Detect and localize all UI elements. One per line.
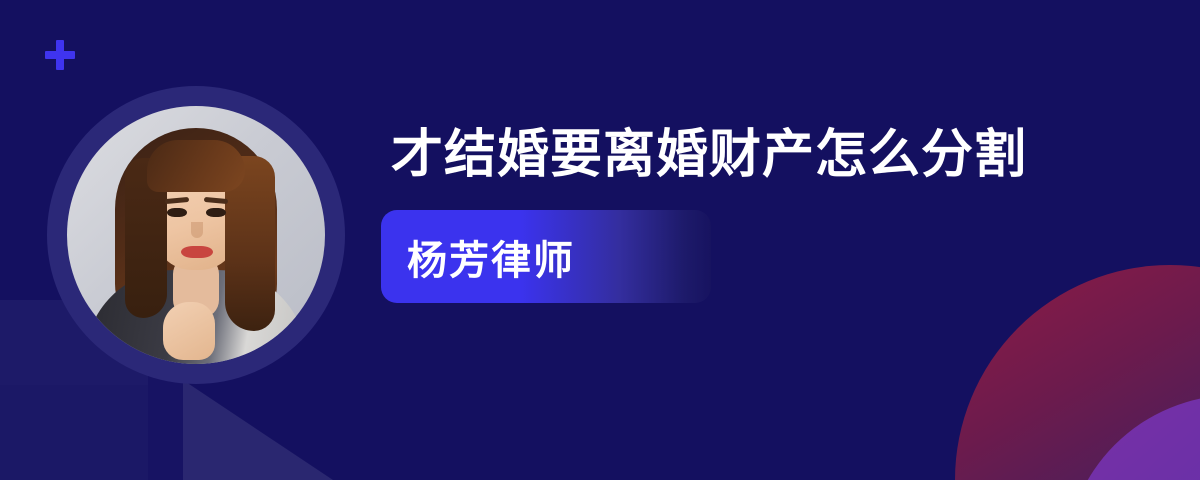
- portrait-eye-right: [206, 208, 226, 217]
- portrait-hand: [163, 302, 215, 360]
- decor-band-left: [0, 385, 155, 480]
- avatar: [47, 86, 345, 384]
- portrait-nose: [191, 222, 203, 238]
- page-title: 才结婚要离婚财产怎么分割: [391, 118, 1071, 193]
- portrait-eye-left: [167, 208, 187, 217]
- avatar-photo: [67, 106, 325, 364]
- portrait-fringe: [147, 140, 245, 192]
- decor-triangle-left: [183, 380, 333, 480]
- promo-card: 才结婚要离婚财产怎么分割 杨芳律师: [0, 0, 1200, 480]
- plus-icon: [45, 40, 75, 70]
- portrait-mouth: [181, 246, 213, 258]
- content-block: 才结婚要离婚财产怎么分割 杨芳律师: [391, 118, 1091, 303]
- lawyer-name-button[interactable]: 杨芳律师: [381, 210, 711, 303]
